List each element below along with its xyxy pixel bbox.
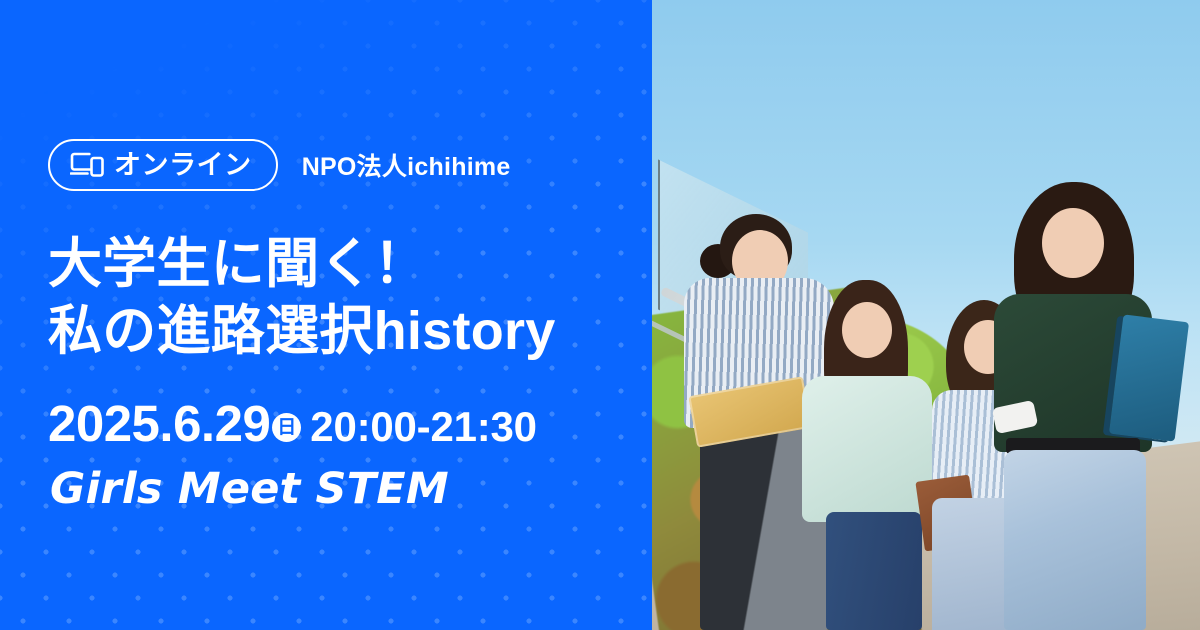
page-title: 大学生に聞く！ 私の進路選択history (48, 231, 556, 365)
face (842, 302, 892, 358)
brand-logotype: Girls Meet STEM (50, 468, 449, 511)
badge-row: オンライン NPO法人ichihime (48, 139, 511, 191)
online-badge: オンライン (48, 139, 278, 191)
jeans (1004, 450, 1146, 630)
mint-jacket (802, 376, 932, 522)
panel-content: オンライン NPO法人ichihime 大学生に聞く！ 私の進路選択histor… (48, 0, 648, 630)
face (1042, 208, 1104, 278)
hero-photo (652, 0, 1200, 630)
jeans (826, 512, 922, 630)
online-badge-label: オンライン (114, 152, 252, 179)
schedule-row: 2025.6.29 日 20:00-21:30 (48, 398, 537, 449)
event-time: 20:00-21:30 (310, 406, 537, 448)
day-of-week-badge: 日 (272, 413, 301, 442)
held-notebook (1109, 314, 1189, 441)
event-banner: オンライン NPO法人ichihime 大学生に聞く！ 私の進路選択histor… (0, 0, 1200, 630)
student-person-4 (970, 182, 1200, 630)
event-date: 2025.6.29 (48, 398, 270, 449)
devices-icon (70, 152, 104, 178)
organizer-name: NPO法人ichihime (302, 147, 511, 183)
